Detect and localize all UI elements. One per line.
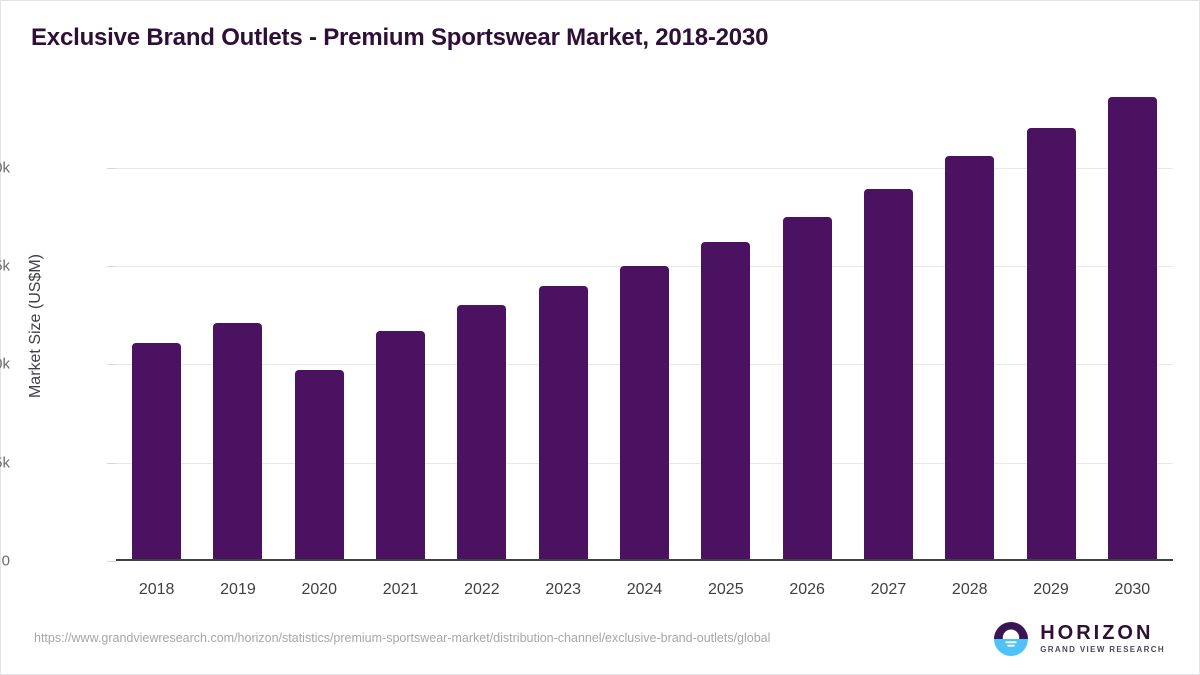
y-axis-title: Market Size (US$M) [27,91,47,561]
y-tick-mark [107,561,116,562]
x-axis-line [116,559,1173,561]
x-tick-label-2030: 2030 [1115,581,1151,599]
x-tick-label-2024: 2024 [627,581,663,599]
bar-2023[interactable] [539,286,588,561]
y-tick-mark [107,463,116,464]
bar-2028[interactable] [945,156,994,561]
x-tick-label-2029: 2029 [1033,581,1069,599]
bar-2019[interactable] [213,323,262,561]
y-tick-label: 10k [0,356,10,373]
bar-2029[interactable] [1027,128,1076,561]
bar-2021[interactable] [376,331,425,561]
x-tick-label-2021: 2021 [383,581,419,599]
y-tick-label: 0 [2,553,10,570]
x-tick-label-2026: 2026 [789,581,825,599]
horizon-logo: HORIZON GRAND VIEW RESEARCH [991,619,1165,659]
x-tick-label-2028: 2028 [952,581,988,599]
y-tick-mark [107,168,116,169]
bar-2018[interactable] [132,343,181,561]
chart-page: Exclusive Brand Outlets - Premium Sports… [0,0,1200,675]
x-tick-label-2027: 2027 [871,581,907,599]
y-tick-label: 20k [0,159,10,176]
bar-2020[interactable] [295,370,344,561]
bar-series [116,91,1173,561]
bar-2026[interactable] [783,217,832,561]
y-tick-label: 5k [0,454,10,471]
bar-2025[interactable] [701,242,750,561]
x-tick-label-2019: 2019 [220,581,256,599]
source-url[interactable]: https://www.grandviewresearch.com/horizo… [34,630,934,647]
x-tick-label-2025: 2025 [708,581,744,599]
logo-wordmark: HORIZON [1040,623,1165,644]
bar-2022[interactable] [457,305,506,561]
bar-2027[interactable] [864,189,913,561]
x-tick-label-2022: 2022 [464,581,500,599]
logo-text: HORIZON GRAND VIEW RESEARCH [1040,623,1165,655]
y-tick-label: 15k [0,258,10,275]
x-tick-label-2020: 2020 [301,581,337,599]
horizon-logo-icon [991,619,1031,659]
page-title: Exclusive Brand Outlets - Premium Sports… [31,24,768,52]
x-tick-label-2018: 2018 [139,581,175,599]
plot-area [116,91,1173,561]
logo-tagline: GRAND VIEW RESEARCH [1040,644,1165,655]
y-tick-mark [107,266,116,267]
bar-2030[interactable] [1108,97,1157,561]
bar-2024[interactable] [620,266,669,561]
y-tick-mark [107,364,116,365]
x-tick-label-2023: 2023 [545,581,581,599]
